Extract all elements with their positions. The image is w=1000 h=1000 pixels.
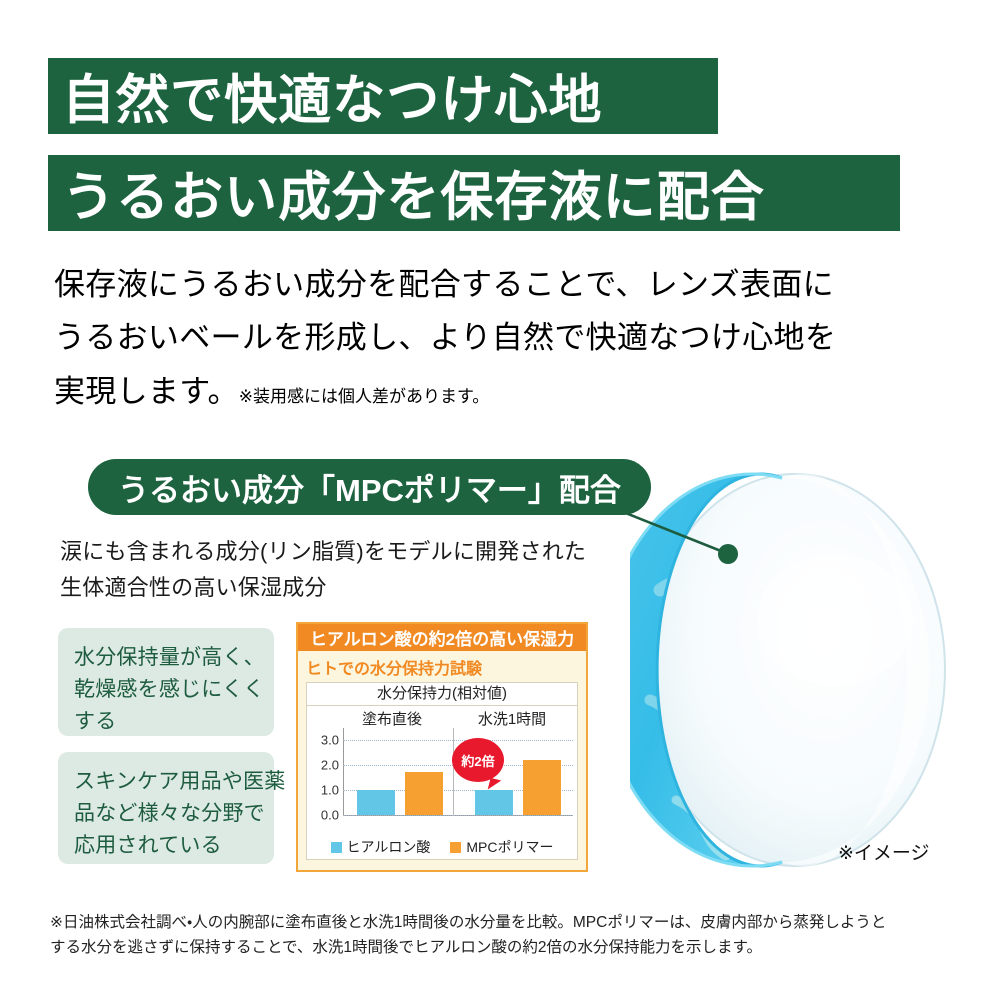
legend-swatch-blue-icon <box>331 842 342 853</box>
feature-box-applications: スキンケア用品や医薬 品など様々な分野で 応用されている <box>58 752 274 864</box>
chart-panel-header: ヒアルロン酸の約2倍の高い保湿力 <box>298 624 586 651</box>
footnote-line-2: する水分を逃さずに保持することで、水洗1時間後でヒアルロン酸の約2倍の水分保持能… <box>50 935 960 960</box>
mpc-desc-line-2: 生体適合性の高い保湿成分 <box>60 570 660 606</box>
headline-line-1: 自然で快適なつけ心地 <box>62 58 603 134</box>
chart-plot-area: 塗布直後 水洗1時間 0.01.02.03.0 約2倍 <box>307 706 577 834</box>
chart-ytick-label: 2.0 <box>309 758 339 773</box>
chart-gridline <box>343 815 573 816</box>
chart-card: 水分保持力(相対値) 塗布直後 水洗1時間 0.01.02.03.0 約2倍 ヒ… <box>306 682 578 860</box>
promo-page: 自然で快適なつけ心地 うるおい成分を保存液に配合 保存液にうるおい成分を配合する… <box>0 0 1000 1000</box>
feature-1-line-0: スキンケア用品や医薬 <box>74 766 260 798</box>
headline-banner-1: 自然で快適なつけ心地 <box>48 58 718 134</box>
chart-xtick-0: 塗布直後 <box>337 708 447 729</box>
chart-legend: ヒアルロン酸 MPCポリマー <box>307 835 577 859</box>
legend-label-mpc: MPCポリマー <box>466 837 553 857</box>
headline-line-2: うるおい成分を保存液に配合 <box>62 155 765 231</box>
lead-paragraph: 保存液にうるおい成分を配合することで、レンズ表面に うるおいベールを形成し、より… <box>54 258 954 418</box>
lead-note: ※装用感には個人差があります。 <box>239 387 490 406</box>
chart-panel-subheader: ヒトでの水分保持力試験 <box>298 651 586 682</box>
feature-1-line-2: 応用されている <box>74 830 260 862</box>
contact-lens-illustration <box>630 470 960 870</box>
lead-line-1: 保存液にうるおい成分を配合することで、レンズ表面に <box>54 258 954 311</box>
mpc-polymer-callout-label: うるおい成分「MPCポリマー」配合 <box>118 465 621 510</box>
footnote: ※日油株式会社調べ・人の内腕部に塗布直後と水洗1時間後の水分量を比較。MPCポリ… <box>50 910 960 960</box>
feature-1-line-1: 品など様々な分野で <box>74 798 260 830</box>
lead-line-3: 実現します。※装用感には個人差があります。 <box>54 365 954 418</box>
chart-xtick-1: 水洗1時間 <box>457 708 567 729</box>
feature-box-moisture-retention: 水分保持量が高く、 乾燥感を感じにくく する <box>58 628 274 736</box>
chart-bar-hyaluronic-1hour <box>475 790 513 815</box>
chart-title: 水分保持力(相対値) <box>307 683 577 706</box>
chart-ytick-label: 1.0 <box>309 783 339 798</box>
chart-bar-mpc-1hour <box>523 760 561 815</box>
legend-label-hyaluronic: ヒアルロン酸 <box>347 837 431 857</box>
feature-0-line-0: 水分保持量が高く、 <box>74 642 260 674</box>
approx-2x-badge: 約2倍 <box>452 738 504 782</box>
chart-bar-mpc-immediate <box>405 772 443 816</box>
chart-ytick-label: 0.0 <box>309 808 339 823</box>
lead-line-3-text: 実現します。 <box>54 374 239 409</box>
mpc-polymer-description: 涙にも含まれる成分(リン脂質)をモデルに開発された 生体適合性の高い保湿成分 <box>60 534 660 605</box>
chart-ytick-label: 3.0 <box>309 733 339 748</box>
headline-banner-2: うるおい成分を保存液に配合 <box>48 155 900 231</box>
mpc-polymer-callout-pill: うるおい成分「MPCポリマー」配合 <box>88 459 651 515</box>
feature-0-line-1: 乾燥感を感じにくく <box>74 674 260 706</box>
chart-gridline <box>343 740 573 741</box>
feature-0-line-2: する <box>74 706 260 738</box>
mpc-desc-line-1: 涙にも含まれる成分(リン脂質)をモデルに開発された <box>60 534 660 570</box>
footnote-line-1: ※日油株式会社調べ・人の内腕部に塗布直後と水洗1時間後の水分量を比較。MPCポリ… <box>50 910 960 935</box>
lead-line-2: うるおいベールを形成し、より自然で快適なつけ心地を <box>54 311 954 364</box>
moisture-chart-panel: ヒアルロン酸の約2倍の高い保湿力 ヒトでの水分保持力試験 水分保持力(相対値) … <box>296 622 588 872</box>
lens-image-caption: ※イメージ <box>838 838 930 865</box>
legend-item-mpc: MPCポリマー <box>450 837 553 857</box>
chart-bar-hyaluronic-immediate <box>357 790 395 815</box>
legend-swatch-orange-icon <box>450 842 461 853</box>
legend-item-hyaluronic: ヒアルロン酸 <box>331 837 431 857</box>
